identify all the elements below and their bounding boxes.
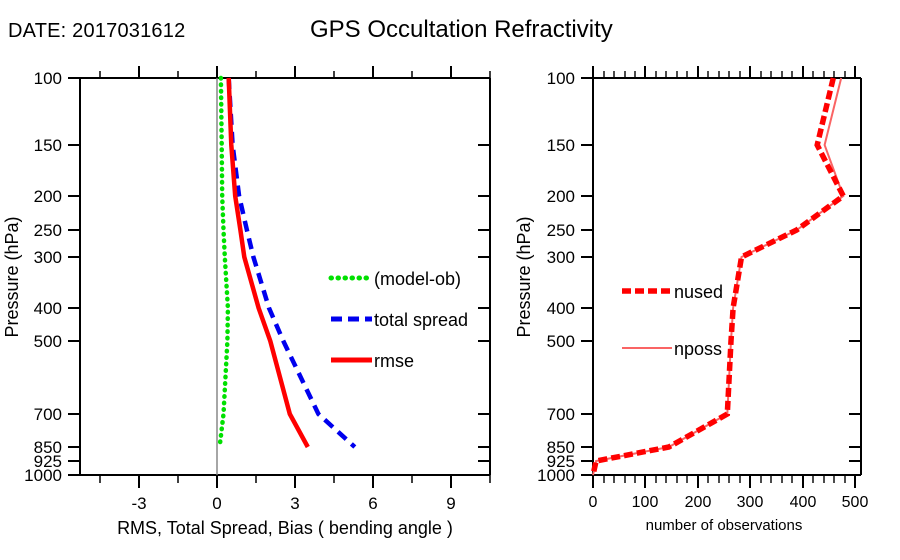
- plots-canvas: 100 150 200 250 300 400 500 700 850 925 …: [0, 0, 900, 560]
- legend-label-total-spread: total spread: [374, 310, 468, 330]
- series-model-minus-ob: [220, 78, 228, 447]
- right-ytick-1000: 1000: [537, 466, 575, 485]
- right-xtick-500: 500: [842, 494, 869, 511]
- left-ytick-150: 150: [34, 136, 62, 155]
- legend-label-nused: nused: [674, 282, 723, 302]
- left-y-ticks: [68, 78, 80, 475]
- right-ytick-700: 700: [547, 405, 575, 424]
- right-ytick-500: 500: [547, 332, 575, 351]
- right-y-ticks-right: [849, 145, 861, 461]
- right-xtick-300: 300: [737, 494, 764, 511]
- right-ytick-100: 100: [547, 69, 575, 88]
- left-xtick-0: 0: [212, 494, 221, 513]
- right-legend: nused nposs: [622, 282, 723, 359]
- right-xtick-0: 0: [589, 494, 598, 511]
- left-panel: 100 150 200 250 300 400 500 700 850 925 …: [2, 66, 490, 538]
- left-legend: (model-ob) total spread rmse: [331, 269, 468, 371]
- legend-label-model-ob: (model-ob): [374, 269, 461, 289]
- left-ytick-400: 400: [34, 299, 62, 318]
- left-ytick-100: 100: [34, 69, 62, 88]
- right-ytick-150: 150: [547, 136, 575, 155]
- right-ytick-250: 250: [547, 221, 575, 240]
- right-xtick-400: 400: [790, 494, 817, 511]
- right-x-axis-title: number of observations: [646, 517, 803, 534]
- right-xtick-200: 200: [685, 494, 712, 511]
- legend-label-nposs: nposs: [674, 339, 722, 359]
- left-x-ticks-top: [100, 66, 490, 78]
- left-xtick-neg3: -3: [131, 494, 146, 513]
- left-xtick-3: 3: [290, 494, 299, 513]
- right-xtick-100: 100: [632, 494, 659, 511]
- left-ytick-250: 250: [34, 221, 62, 240]
- plot-page: DATE: 2017031612 GPS Occultation Refract…: [0, 0, 900, 560]
- right-ytick-300: 300: [547, 248, 575, 267]
- left-x-axis-title: RMS, Total Spread, Bias ( bending angle …: [117, 518, 453, 538]
- right-x-ticks-top: [593, 66, 855, 78]
- right-y-axis-title: Pressure (hPa): [514, 216, 534, 337]
- right-panel: 100 150 200 250 300 400 500 700 850 925 …: [514, 66, 868, 534]
- left-ytick-1000: 1000: [24, 466, 62, 485]
- series-nposs: [593, 78, 843, 475]
- left-xtick-6: 6: [368, 494, 377, 513]
- left-y-axis-title: Pressure (hPa): [2, 216, 22, 337]
- left-x-ticks: [100, 475, 490, 488]
- legend-label-rmse: rmse: [374, 351, 414, 371]
- right-x-ticks: [593, 475, 855, 488]
- right-ytick-200: 200: [547, 187, 575, 206]
- left-y-ticks-right: [478, 145, 490, 461]
- left-ytick-700: 700: [34, 405, 62, 424]
- left-ytick-200: 200: [34, 187, 62, 206]
- left-xtick-9: 9: [446, 494, 455, 513]
- series-rmse: [229, 78, 308, 447]
- left-ytick-300: 300: [34, 248, 62, 267]
- series-nused: [593, 78, 843, 475]
- right-ytick-400: 400: [547, 299, 575, 318]
- right-y-ticks: [581, 78, 593, 475]
- left-ytick-500: 500: [34, 332, 62, 351]
